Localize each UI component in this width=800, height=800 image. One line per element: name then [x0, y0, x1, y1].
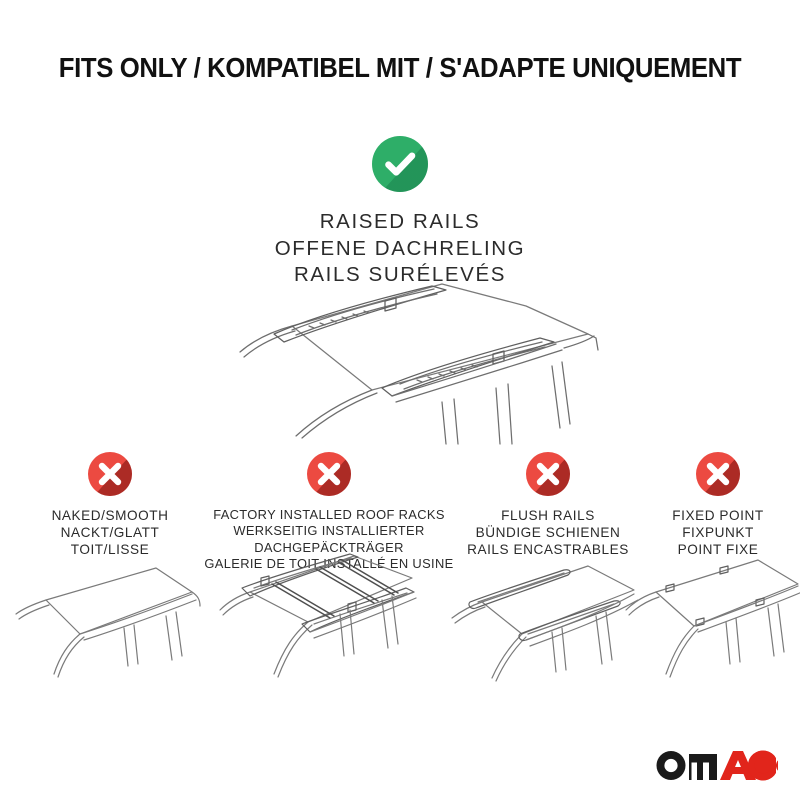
x-glyph — [526, 452, 570, 496]
label-en: FLUSH RAILS — [458, 507, 638, 524]
unsupported-labels: NAKED/SMOOTH NACKT/GLATT TOIT/LISSE — [18, 507, 202, 558]
x-circle-icon — [88, 452, 132, 496]
x-circle-icon — [307, 452, 351, 496]
omac-logo — [654, 748, 778, 782]
x-circle-icon — [696, 452, 740, 496]
omac-logo-mark — [654, 748, 778, 782]
label-en: FIXED POINT — [640, 507, 796, 524]
roof-line-art — [6, 556, 202, 702]
label-de: FIXPUNKT — [640, 524, 796, 541]
unsupported-labels: FLUSH RAILS BÜNDIGE SCHIENEN RAILS ENCAS… — [458, 507, 638, 558]
roof-line-art — [622, 552, 800, 702]
label-de: BÜNDIGE SCHIENEN — [458, 524, 638, 541]
roof-line-art — [442, 556, 646, 702]
x-glyph — [88, 452, 132, 496]
logo-letter-o — [657, 751, 686, 780]
supported-labels: RAISED RAILS OFFENE DACHRELING RAILS SUR… — [0, 209, 800, 289]
logo-letter-m — [689, 754, 717, 780]
car-roof-fixed-point-illustration — [622, 552, 800, 702]
car-roof-factory-installed-racks-illustration — [198, 548, 460, 702]
roof-line-art — [198, 548, 460, 702]
x-circle-icon — [526, 452, 570, 496]
x-circle-badge — [307, 452, 351, 496]
car-roof-naked-smooth-illustration — [6, 556, 202, 702]
page-title: FITS ONLY / KOMPATIBEL MIT / S'ADAPTE UN… — [26, 52, 774, 84]
supported-label-de: OFFENE DACHRELING — [0, 236, 800, 263]
check-glyph — [372, 136, 428, 192]
supported-type-block: RAISED RAILS OFFENE DACHRELING RAILS SUR… — [0, 136, 800, 289]
header: FITS ONLY / KOMPATIBEL MIT / S'ADAPTE UN… — [0, 52, 800, 84]
unsupported-item-flush-rails: FLUSH RAILS BÜNDIGE SCHIENEN RAILS ENCAS… — [458, 452, 638, 558]
x-circle-badge — [696, 452, 740, 496]
supported-label-en: RAISED RAILS — [0, 209, 800, 236]
label-en: NAKED/SMOOTH — [18, 507, 202, 524]
x-circle-badge — [88, 452, 132, 496]
car-roof-with-raised-rails-illustration — [196, 278, 606, 446]
car-roof-flush-rails-illustration — [442, 556, 646, 702]
label-de: NACKT/GLATT — [18, 524, 202, 541]
unsupported-labels: FIXED POINT FIXPUNKT POINT FIXE — [640, 507, 796, 558]
x-glyph — [307, 452, 351, 496]
check-circle-icon — [372, 136, 428, 192]
roof-line-art — [196, 278, 606, 446]
check-circle-badge — [372, 136, 428, 192]
label-de-1: WERKSEITIG INSTALLIERTER — [200, 523, 458, 539]
unsupported-item-fixed-point: FIXED POINT FIXPUNKT POINT FIXE — [640, 452, 796, 558]
unsupported-item-naked-smooth: NAKED/SMOOTH NACKT/GLATT TOIT/LISSE — [18, 452, 202, 558]
x-glyph — [696, 452, 740, 496]
label-en: FACTORY INSTALLED ROOF RACKS — [200, 507, 458, 523]
logo-letter-c — [748, 751, 778, 781]
x-circle-badge — [526, 452, 570, 496]
